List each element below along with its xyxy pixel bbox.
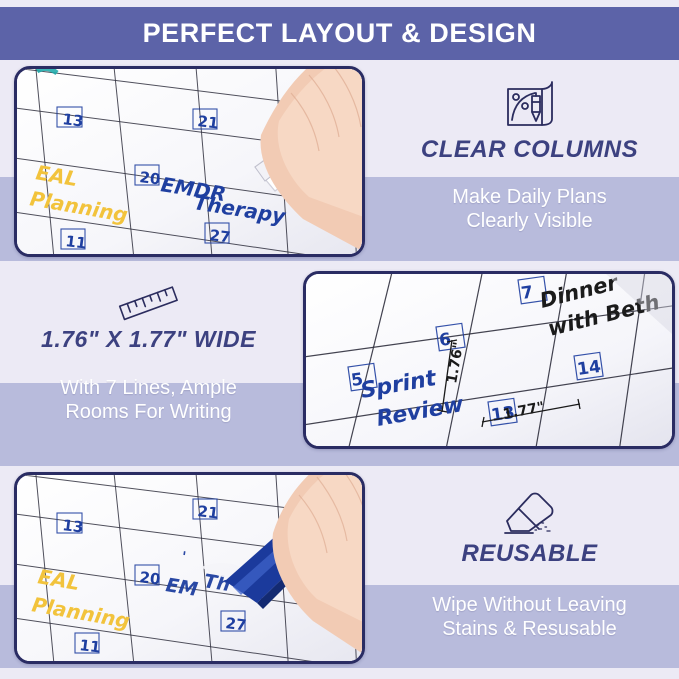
svg-text:11: 11: [79, 636, 102, 656]
feature-subtext-line2: Clearly Visible: [390, 210, 669, 234]
feature-subtext-line2: Rooms For Writing: [6, 401, 291, 425]
infographic-page: PERFECT LAYOUT & DESIGN: [0, 0, 679, 679]
svg-text:27: 27: [225, 614, 248, 634]
feature-subtext: Make Daily Plans Clearly Visible: [390, 186, 669, 233]
feature-heading: CLEAR COLUMNS: [390, 136, 669, 164]
photo-measurements: 5 6 7 13 14 Sprint Review Dinner with: [303, 271, 675, 449]
photo-eraser: 13 21 20 27 11 EM Th ' EAL: [14, 472, 365, 664]
svg-text:27: 27: [209, 226, 232, 246]
svg-text:21: 21: [197, 502, 220, 522]
photo-writing-marker: 13 21 20 28 27 11 EMDR Therapy EAL: [14, 66, 365, 257]
svg-text:20: 20: [139, 168, 162, 188]
svg-text:13: 13: [62, 110, 85, 130]
feature-reusable: REUSABLE Wipe Without Leaving Stains & R…: [390, 484, 669, 641]
svg-text:21: 21: [197, 112, 220, 132]
eraser-icon: [390, 484, 669, 540]
feature-subtext: Wipe Without Leaving Stains & Resusable: [390, 594, 669, 641]
svg-text:20: 20: [139, 568, 162, 588]
ruler-icon: [6, 278, 291, 326]
feature-heading: 1.76" X 1.77" WIDE: [6, 326, 291, 353]
feature-clear-columns: CLEAR COLUMNS Make Daily Plans Clearly V…: [390, 76, 669, 233]
feature-subtext-line1: Make Daily Plans: [390, 186, 669, 210]
feature-subtext-line1: Wipe Without Leaving: [390, 594, 669, 618]
page-title: PERFECT LAYOUT & DESIGN: [0, 7, 679, 60]
feature-subtext-line2: Stains & Resusable: [390, 618, 669, 642]
svg-text:14: 14: [576, 357, 602, 380]
feature-subtext: With 7 Lines, Ample Rooms For Writing: [6, 377, 291, 424]
feature-subtext-line1: With 7 Lines, Ample: [6, 377, 291, 401]
svg-text:13: 13: [62, 516, 85, 536]
feature-wide-cells: 1.76" X 1.77" WIDE With 7 Lines, Ample R…: [6, 278, 291, 424]
feature-heading: REUSABLE: [390, 540, 669, 568]
svg-text:11: 11: [65, 232, 88, 252]
blueprint-icon: [390, 76, 669, 134]
